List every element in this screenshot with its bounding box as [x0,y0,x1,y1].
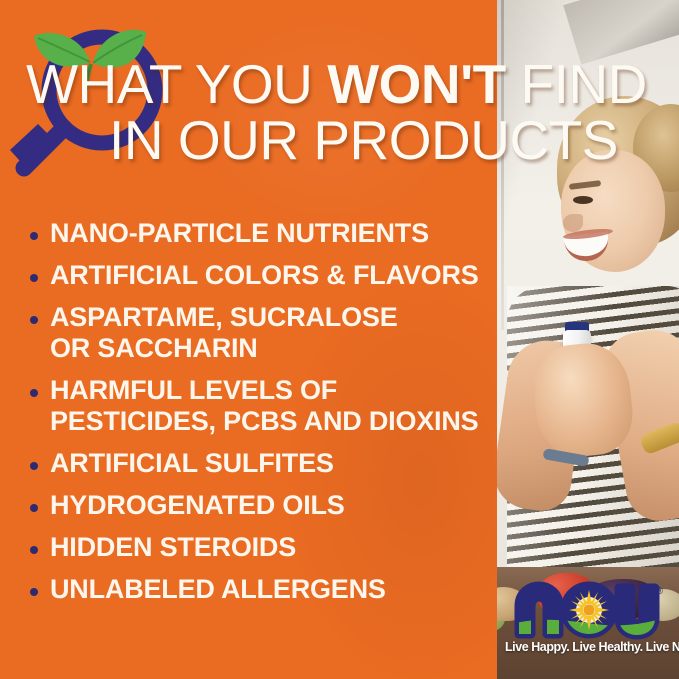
now-logo-mark [505,580,665,642]
woman-nose [563,214,583,232]
list-item-label: UNLABELED ALLERGENS [50,574,386,605]
list-item-label: HARMFUL LEVELS OF PESTICIDES, PCBS AND D… [50,375,478,437]
list-item: NANO-PARTICLE NUTRIENTS [30,218,490,249]
bullet-dot-icon [30,588,38,596]
sunburst-icon [569,590,609,630]
bullet-dot-icon [30,232,38,240]
list-item: ASPARTAME, SUCRALOSE OR SACCHARIN [30,302,490,364]
list-item-label: ASPARTAME, SUCRALOSE OR SACCHARIN [50,302,398,364]
bullet-dot-icon [30,316,38,324]
list-item: HYDROGENATED OILS [30,490,490,521]
registered-mark: ® [656,586,663,596]
bullet-dot-icon [30,546,38,554]
list-item-label: ARTIFICIAL SULFITES [50,448,334,479]
list-item-label: NANO-PARTICLE NUTRIENTS [50,218,429,249]
list-item: UNLABELED ALLERGENS [30,574,490,605]
headline-line-2: IN OUR PRODUCTS [0,112,679,168]
list-item: ARTIFICIAL COLORS & FLAVORS [30,260,490,291]
list-item: HARMFUL LEVELS OF PESTICIDES, PCBS AND D… [30,375,490,437]
list-item-label: ARTIFICIAL COLORS & FLAVORS [50,260,479,291]
woman-eye [573,196,593,204]
bullet-dot-icon [30,504,38,512]
list-item-label: HIDDEN STEROIDS [50,532,296,563]
list-item: ARTIFICIAL SULFITES [30,448,490,479]
exclusion-list: NANO-PARTICLE NUTRIENTS ARTIFICIAL COLOR… [30,218,490,616]
promo-graphic: WHAT YOU WON'T FIND IN OUR PRODUCTS NANO… [0,0,679,679]
list-item: HIDDEN STEROIDS [30,532,490,563]
brand-tagline: Live Happy. Live Healthy. Live NOW. [505,640,665,654]
headline-emphasis: WON'T [327,53,506,115]
headline-prefix: WHAT YOU [26,53,327,115]
headline-line-1: WHAT YOU WON'T FIND [0,56,679,112]
bullet-dot-icon [30,389,38,397]
list-item-label: HYDROGENATED OILS [50,490,345,521]
bullet-dot-icon [30,274,38,282]
bullet-dot-icon [30,462,38,470]
now-brand-logo: ® Live Happy. Live Healthy. Live NOW. [505,580,665,666]
headline-suffix: FIND [506,53,647,115]
headline: WHAT YOU WON'T FIND IN OUR PRODUCTS [0,56,679,168]
